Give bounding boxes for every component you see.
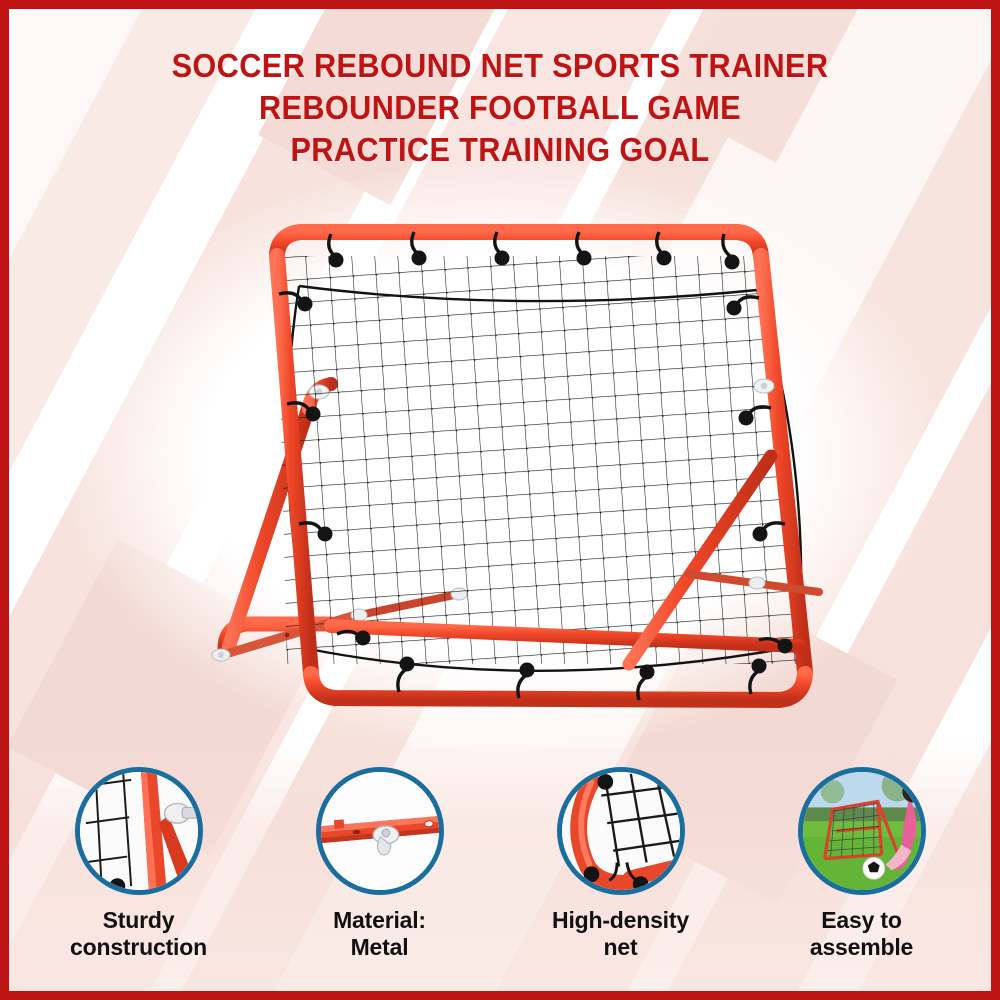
feature-label-line-1: Material:	[333, 907, 426, 934]
feature-label-line-2: Metal	[333, 934, 426, 961]
feature-item-easy-to-assemble: Easy to assemble	[741, 767, 982, 977]
feature-label-line-2: net	[552, 934, 689, 961]
net-corner-mesh-icon	[557, 767, 685, 895]
page-title: SOCCER REBOUND NET SPORTS TRAINER REBOUN…	[43, 45, 956, 171]
outdoor-player-kicking-icon	[798, 767, 926, 895]
title-line-1: SOCCER REBOUND NET SPORTS TRAINER	[43, 45, 956, 87]
right-pivot-wingnut-icon	[754, 379, 774, 393]
feature-label: Easy to assemble	[810, 907, 913, 961]
feature-item-high-density-net: High-density net	[500, 767, 741, 977]
wingnut-icon	[749, 577, 765, 589]
feature-label-line-2: construction	[70, 934, 207, 961]
feature-item-sturdy-construction: Sturdy construction	[18, 767, 259, 977]
feature-label-line-2: assemble	[810, 934, 913, 961]
wingnut-icon	[212, 649, 230, 661]
feature-label: High-density net	[552, 907, 689, 961]
feature-label: Material: Metal	[333, 907, 426, 961]
feature-highlights-row: Sturdy construction	[18, 767, 982, 977]
net-frame-closeup-icon	[75, 767, 203, 895]
feature-label-line-1: Easy to	[810, 907, 913, 934]
feature-label: Sturdy construction	[70, 907, 207, 961]
title-line-2: REBOUNDER FOOTBALL GAME	[43, 87, 956, 129]
feature-item-material-metal: Material: Metal	[259, 767, 500, 977]
metal-bar-wingnut-icon	[316, 767, 444, 895]
feature-label-line-1: Sturdy	[70, 907, 207, 934]
feature-label-line-1: High-density	[552, 907, 689, 934]
product-marketing-poster: SOCCER REBOUND NET SPORTS TRAINER REBOUN…	[0, 0, 1000, 1000]
hero-product-image	[159, 194, 879, 749]
title-line-3: PRACTICE TRAINING GOAL	[43, 129, 956, 171]
